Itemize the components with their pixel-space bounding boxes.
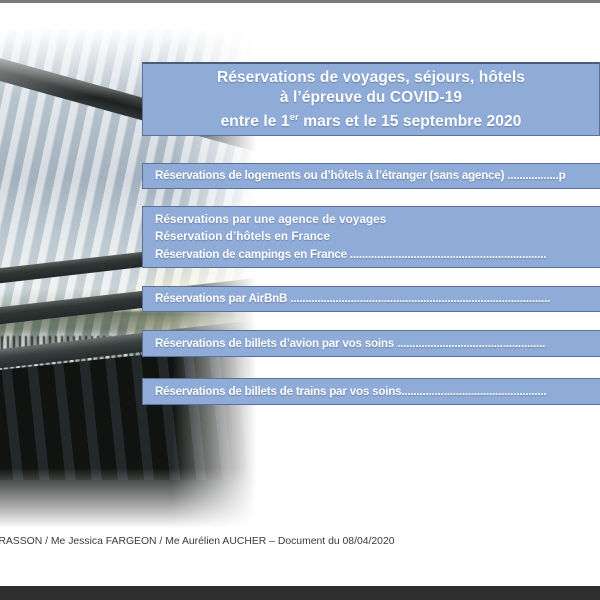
presentation-slide: Réservations de voyages, séjours, hôtels… xyxy=(0,0,600,600)
row-lodging-abroad-line-1: Réservations de logements ou d’hôtels à … xyxy=(155,167,600,185)
slide-title-line-1: Réservations de voyages, séjours, hôtels xyxy=(217,68,525,88)
row-plane-tickets-line-1: Réservations de billets d’avion par vos … xyxy=(155,335,600,353)
row-travel-agency-line-3: Réservation de campings en France ......… xyxy=(155,246,600,264)
slide-top-border xyxy=(0,0,600,3)
slide-footer-credits: FRASSON / Me Jessica FARGEON / Me Auréli… xyxy=(0,535,472,549)
slide-bottom-border xyxy=(0,586,600,600)
slide-title-ordinal-suffix: er xyxy=(290,112,299,123)
slide-title-line-3-before: entre le 1 xyxy=(221,114,290,131)
row-airbnb[interactable]: Réservations par AirBnB ................… xyxy=(142,286,600,312)
row-train-tickets[interactable]: Réservations de billets de trains par vo… xyxy=(142,378,600,405)
slide-title-line-3: entre le 1er mars et le 15 septembre 202… xyxy=(221,108,522,132)
row-train-tickets-line-1: Réservations de billets de trains par vo… xyxy=(155,383,600,401)
row-plane-tickets[interactable]: Réservations de billets d’avion par vos … xyxy=(142,330,600,357)
row-travel-agency-line-2: Réservation d’hôtels en France xyxy=(155,228,600,246)
row-travel-agency[interactable]: Réservations par une agence de voyages R… xyxy=(142,206,600,268)
slide-title-box: Réservations de voyages, séjours, hôtels… xyxy=(142,62,600,136)
slide-title-line-2: à l’épreuve du COVID-19 xyxy=(280,88,462,108)
row-travel-agency-line-1: Réservations par une agence de voyages xyxy=(155,211,600,229)
row-airbnb-line-1: Réservations par AirBnB ................… xyxy=(155,290,600,308)
slide-title-line-3-after: mars et le 15 septembre 2020 xyxy=(299,114,522,131)
row-lodging-abroad[interactable]: Réservations de logements ou d’hôtels à … xyxy=(142,163,600,189)
